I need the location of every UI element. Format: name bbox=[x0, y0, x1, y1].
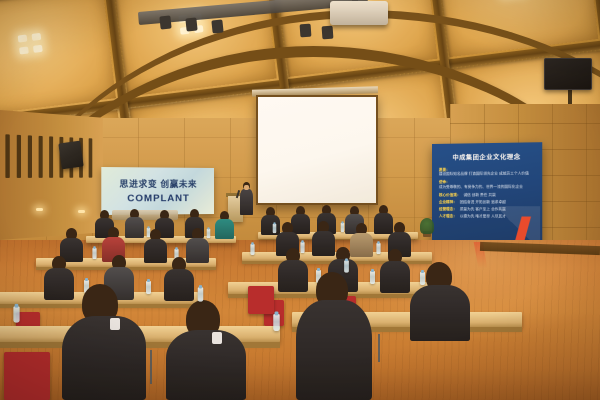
audience-body bbox=[380, 261, 410, 293]
audience-body bbox=[296, 300, 372, 400]
left-wall bbox=[0, 110, 103, 240]
corporate-culture-board: 中成集团企业文化理念 愿景： 建设国际知名品牌 打造国际领先企业 成就员工个人价… bbox=[432, 142, 542, 254]
complant-logo: COMPLANT bbox=[127, 193, 190, 204]
presenter-face bbox=[244, 185, 249, 190]
audience-body bbox=[62, 316, 146, 400]
audience-body bbox=[350, 233, 373, 257]
water-bottle bbox=[198, 287, 204, 301]
audience-body bbox=[374, 213, 393, 234]
water-bottle bbox=[250, 244, 254, 255]
chair bbox=[4, 352, 50, 400]
water-bottle bbox=[273, 224, 277, 233]
audience-body bbox=[410, 285, 470, 341]
chair bbox=[248, 286, 274, 314]
stage-spotlight-icon bbox=[211, 19, 223, 33]
water-bottle bbox=[376, 243, 380, 254]
audience-body bbox=[278, 260, 308, 292]
projection-screen bbox=[256, 95, 378, 205]
water-bottle bbox=[273, 314, 280, 331]
audience-body bbox=[312, 231, 335, 256]
audience-body bbox=[166, 330, 246, 400]
stage-spotlight-icon bbox=[300, 24, 312, 38]
water-bottle bbox=[344, 260, 349, 272]
audience-body bbox=[186, 238, 209, 263]
projector-icon bbox=[330, 1, 388, 25]
acoustic-slot-panels bbox=[5, 134, 103, 178]
audience-body bbox=[44, 268, 74, 300]
complant-stage-banner: 思进求变 创赢未来 COMPLANT bbox=[101, 167, 214, 215]
conference-hall-photo: 思进求变 创赢未来 COMPLANT 中成集团企业文化理念 愿景： 建设国际知名… bbox=[0, 0, 600, 400]
audience-body bbox=[291, 214, 310, 234]
potted-plant-icon bbox=[420, 218, 434, 234]
water-bottle bbox=[300, 242, 304, 253]
loudspeaker-icon bbox=[58, 141, 83, 170]
water-bottle bbox=[420, 272, 425, 285]
water-bottle bbox=[13, 306, 19, 322]
water-bottle bbox=[146, 281, 151, 294]
tv-wall-mount bbox=[568, 88, 572, 104]
audience-body bbox=[144, 239, 167, 263]
culture-row-values: 核心价值观： 诚信 创新 责任 共赢 bbox=[439, 193, 537, 198]
tv-screen-icon bbox=[544, 58, 592, 90]
audience-body bbox=[164, 269, 194, 301]
culture-board-title: 中成集团企业文化理念 bbox=[432, 151, 542, 162]
stage-spotlight-icon bbox=[185, 17, 197, 31]
water-bottle bbox=[92, 248, 96, 259]
water-bottle bbox=[207, 229, 211, 238]
stage-spotlight-icon bbox=[159, 15, 171, 29]
projection-screen-surface bbox=[258, 97, 376, 203]
banner-slogan: 思进求变 创赢未来 bbox=[119, 178, 197, 190]
culture-row-vision: 愿景： 建设国际知名品牌 打造国际领先企业 成就员工个人价值 bbox=[439, 167, 537, 177]
presenter-body bbox=[240, 189, 253, 215]
culture-row-mission: 使命： 成为受尊敬的、有竞争力的、世界一流的国际化企业 bbox=[439, 180, 537, 190]
water-bottle bbox=[370, 271, 375, 284]
stage-spotlight-icon bbox=[322, 26, 334, 40]
audience-body bbox=[215, 219, 234, 239]
culture-row-spirit: 企业精神： 团结奋进 开拓创新 追求卓越 bbox=[439, 200, 537, 205]
water-bottle bbox=[341, 223, 345, 232]
audience-body bbox=[261, 215, 280, 235]
audience-body bbox=[125, 217, 144, 238]
